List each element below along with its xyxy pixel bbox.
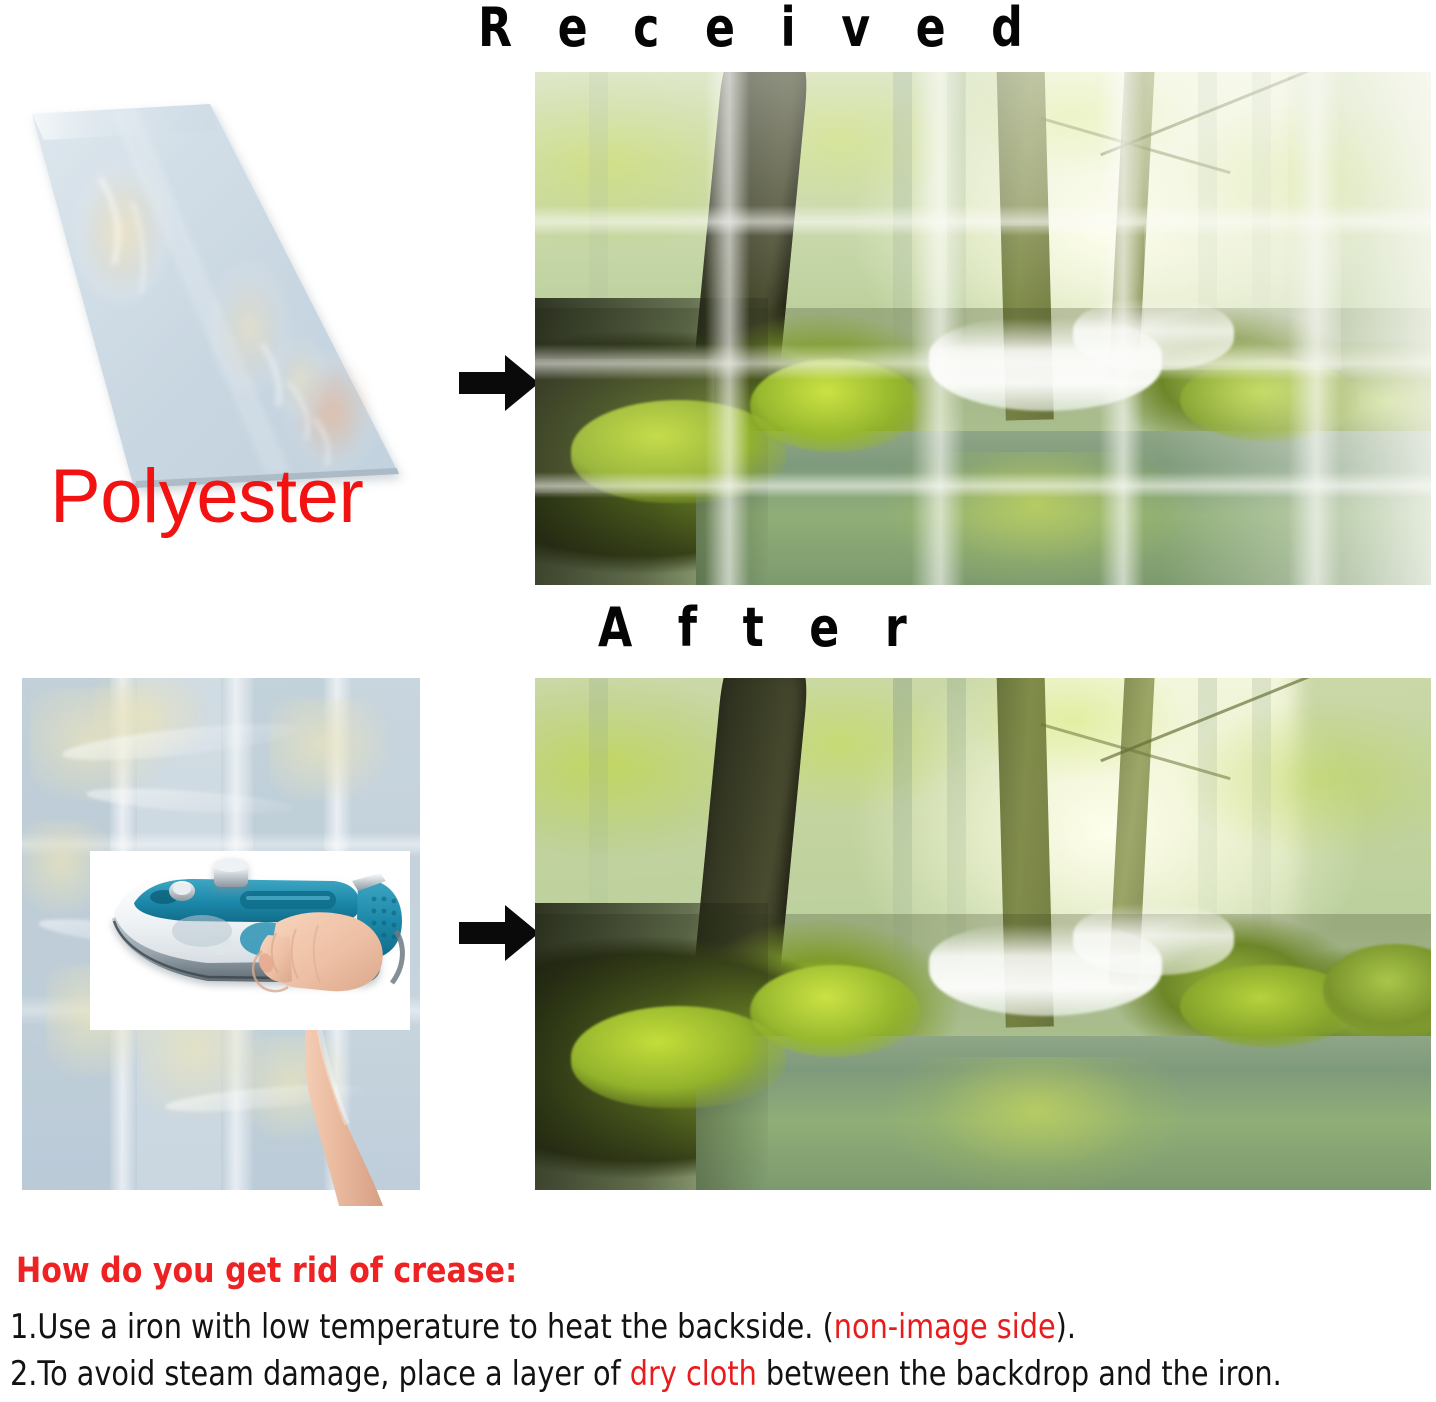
care-line-1-prefix: 1.Use a iron with low temperature to hea…	[10, 1307, 834, 1347]
care-line-2-highlight: dry cloth	[630, 1354, 757, 1394]
after-panel-title: A f t e r	[598, 601, 922, 655]
care-line-1-suffix: ).	[1056, 1307, 1076, 1347]
steam-iron-icon	[90, 851, 410, 1030]
forest-scene-smooth	[535, 678, 1431, 1190]
care-line-2-suffix: between the backdrop and the iron.	[757, 1354, 1282, 1394]
right-arrow-icon	[457, 352, 541, 414]
care-line-1-highlight: non-image side	[834, 1307, 1056, 1347]
folded-fabric-icon	[14, 82, 424, 502]
right-arrow-icon-top	[457, 352, 541, 414]
forearm-image	[305, 1008, 391, 1208]
folded-fabric-image	[14, 82, 424, 502]
care-line-2-prefix: 2.To avoid steam damage, place a layer o…	[10, 1354, 630, 1394]
right-arrow-icon	[457, 902, 541, 964]
backside-ironing-photo	[22, 678, 420, 1190]
care-instruction-line-1: 1.Use a iron with low temperature to hea…	[10, 1310, 1076, 1344]
after-backdrop-photo	[535, 678, 1431, 1190]
polyester-material-label: Polyester	[50, 459, 363, 535]
care-instruction-line-2: 2.To avoid steam damage, place a layer o…	[10, 1357, 1282, 1391]
forest-scene-creased	[535, 72, 1431, 585]
iron-demo-box	[90, 851, 410, 1030]
right-arrow-icon-bottom	[457, 902, 541, 964]
hand-icon	[305, 1008, 391, 1208]
care-instructions-heading: How do you get rid of crease:	[16, 1254, 517, 1289]
received-backdrop-photo	[535, 72, 1431, 585]
received-panel-title: R e c e i v e d	[478, 1, 1038, 55]
